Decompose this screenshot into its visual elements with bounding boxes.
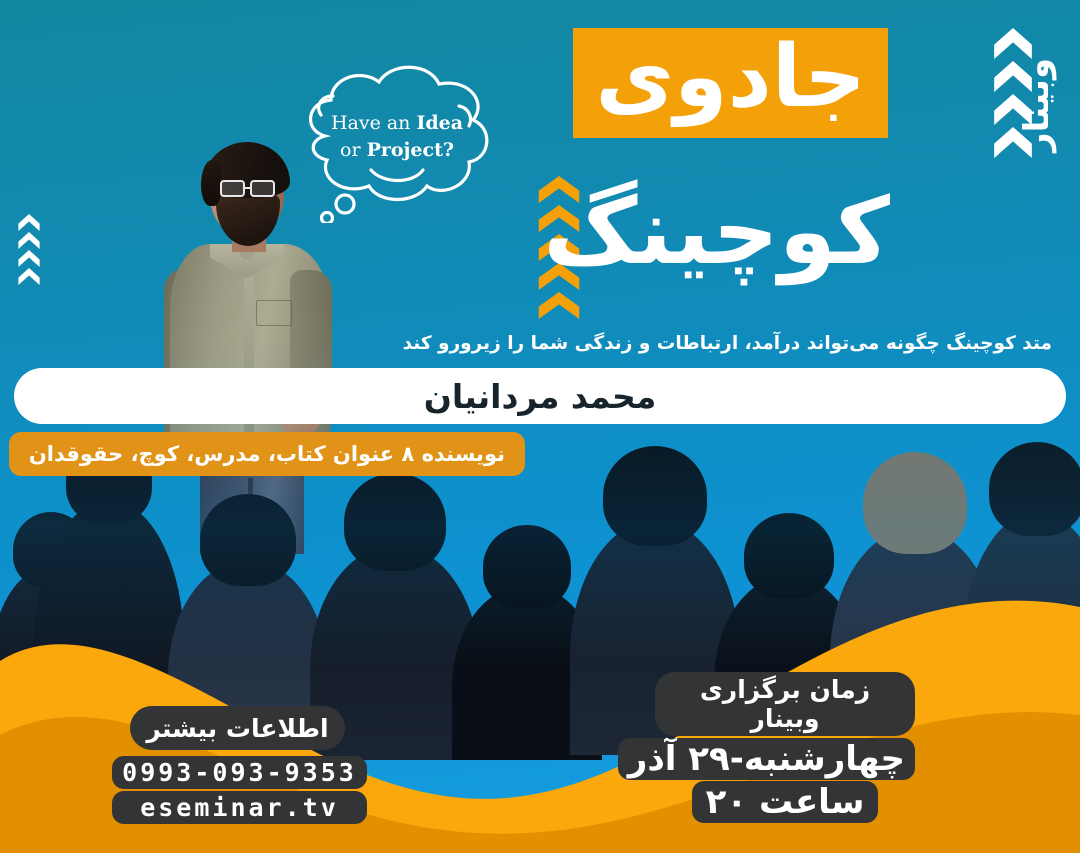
bubble-line2-bold: Project? bbox=[367, 139, 454, 161]
bubble-line1-plain: Have an bbox=[331, 112, 417, 134]
contact-block: 0993-093-9353 eseminar.tv bbox=[112, 756, 367, 826]
schedule-date: چهارشنبه-۲۹ آذر bbox=[628, 739, 905, 779]
brand-vertical-label: وبینار bbox=[1008, 30, 1066, 180]
speaker-name-pill: محمد مردانیان bbox=[14, 368, 1066, 424]
website-row[interactable]: eseminar.tv bbox=[112, 791, 367, 824]
thought-bubble-text: Have an Idea or Project? bbox=[287, 110, 507, 164]
webinar-poster: Have an Idea or Project? وبینار جادوی کو… bbox=[0, 0, 1080, 853]
schedule-time: ساعت ۲۰ bbox=[706, 782, 865, 822]
speaker-role-pill: نویسنده ۸ عنوان کتاب، مدرس، کوچ، حقوقدان bbox=[9, 432, 525, 476]
schedule-header: زمان برگزاری وبینار bbox=[700, 675, 870, 733]
title-line2: کوچینگ bbox=[543, 185, 890, 279]
title-line1: جادوی bbox=[595, 32, 866, 122]
schedule-date-pill: چهارشنبه-۲۹ آذر bbox=[618, 738, 915, 780]
chevron-up-stack-icon bbox=[18, 214, 40, 284]
bubble-line2-plain: or bbox=[340, 139, 367, 161]
website-url: eseminar.tv bbox=[140, 793, 339, 822]
subtitle: متد کوچینگ چگونه می‌تواند درآمد، ارتباطا… bbox=[14, 333, 1066, 354]
title-line1-box: جادوی bbox=[573, 28, 888, 138]
phone-number: 0993-093-9353 bbox=[122, 758, 357, 787]
schedule-header-pill: زمان برگزاری وبینار bbox=[655, 672, 915, 736]
more-info-label: اطلاعات بیشتر bbox=[146, 714, 328, 743]
brand-vertical-label-text: وبینار bbox=[1017, 58, 1057, 152]
bubble-line1-bold: Idea bbox=[416, 112, 463, 134]
phone-row[interactable]: 0993-093-9353 bbox=[112, 756, 367, 789]
schedule-block: زمان برگزاری وبینار چهارشنبه-۲۹ آذر ساعت… bbox=[655, 672, 915, 823]
speaker-role: نویسنده ۸ عنوان کتاب، مدرس، کوچ، حقوقدان bbox=[29, 442, 505, 466]
schedule-time-pill: ساعت ۲۰ bbox=[692, 781, 879, 823]
speaker-name: محمد مردانیان bbox=[424, 377, 657, 416]
thought-bubble-icon: Have an Idea or Project? bbox=[287, 58, 507, 223]
more-info-button[interactable]: اطلاعات بیشتر bbox=[130, 706, 345, 750]
